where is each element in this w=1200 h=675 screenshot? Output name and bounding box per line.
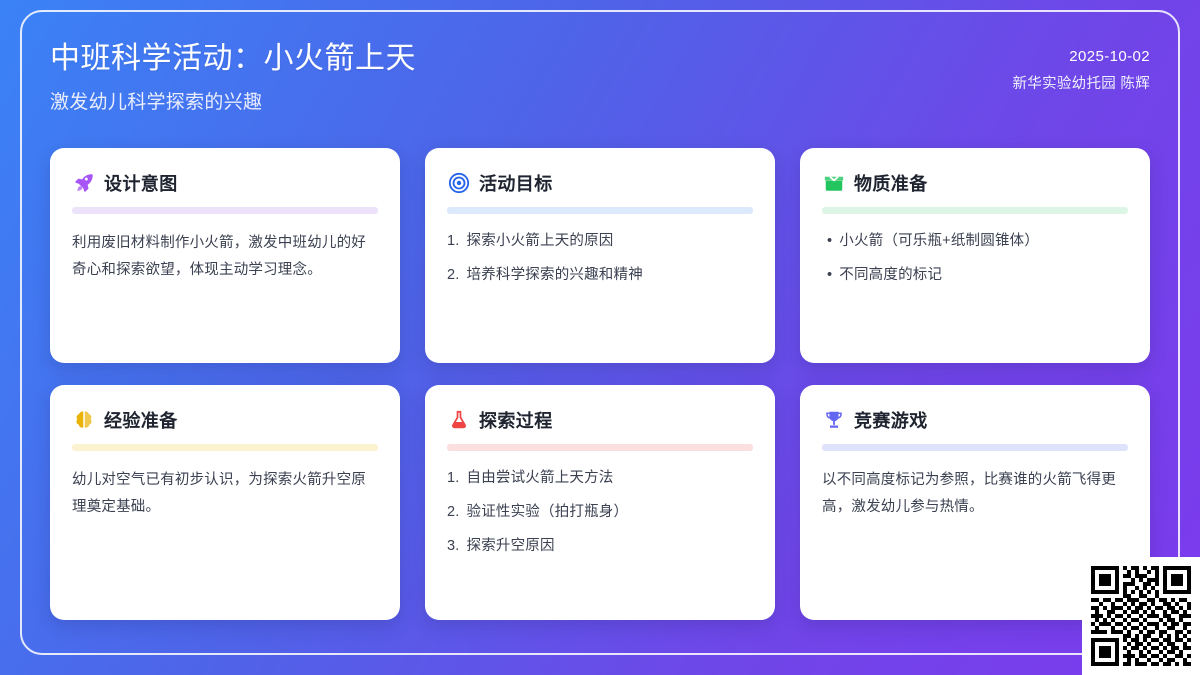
trophy-icon	[822, 409, 845, 432]
card-body: 幼儿对空气已有初步认识，为探索火箭升空原理奠定基础。	[72, 467, 378, 521]
list-item-text: 探索升空原因	[467, 535, 555, 558]
brain-icon	[72, 409, 95, 432]
list-item: 2.验证性实验（拍打瓶身）	[447, 501, 753, 524]
card-underline	[822, 207, 1128, 214]
qr-code	[1091, 566, 1191, 666]
list-marker: 3.	[447, 535, 460, 558]
qr-code-container[interactable]	[1082, 557, 1200, 675]
date-label: 2025-10-02	[1012, 48, 1150, 65]
card-title: 经验准备	[104, 407, 178, 433]
card-header: 活动目标	[447, 170, 753, 207]
card-2: 活动目标1.探索小火箭上天的原因2.培养科学探索的兴趣和精神	[425, 148, 775, 363]
list-item-text: 培养科学探索的兴趣和精神	[467, 264, 643, 287]
card-4: 经验准备幼儿对空气已有初步认识，为探索火箭升空原理奠定基础。	[50, 385, 400, 620]
card-title: 物质准备	[854, 170, 928, 196]
card-underline	[447, 207, 753, 214]
list-item-text: 小火箭（可乐瓶+纸制圆锥体）	[839, 230, 1039, 253]
card-underline	[72, 207, 378, 214]
card-paragraph: 利用废旧材料制作小火箭，激发中班幼儿的好奇心和探索欲望，体现主动学习理念。	[72, 230, 378, 284]
list-item: 1.探索小火箭上天的原因	[447, 230, 753, 253]
card-header: 经验准备	[72, 407, 378, 444]
flask-icon	[447, 409, 470, 432]
card-underline	[822, 444, 1128, 451]
list-marker: •	[822, 264, 832, 287]
list-item: •小火箭（可乐瓶+纸制圆锥体）	[822, 230, 1128, 253]
slide: 中班科学活动：小火箭上天 激发幼儿科学探索的兴趣 2025-10-02 新华实验…	[0, 0, 1200, 675]
slide-header: 中班科学活动：小火箭上天 激发幼儿科学探索的兴趣 2025-10-02 新华实验…	[50, 38, 1150, 130]
list-marker: 2.	[447, 264, 460, 287]
card-list: 1.自由尝试火箭上天方法2.验证性实验（拍打瓶身）3.探索升空原因	[447, 467, 753, 559]
list-item: •不同高度的标记	[822, 264, 1128, 287]
list-item: 1.自由尝试火箭上天方法	[447, 467, 753, 490]
target-icon	[447, 172, 470, 195]
card-title: 竞赛游戏	[854, 407, 928, 433]
card-5: 探索过程1.自由尝试火箭上天方法2.验证性实验（拍打瓶身）3.探索升空原因	[425, 385, 775, 620]
list-item: 3.探索升空原因	[447, 535, 753, 558]
organization-label: 新华实验幼托园 陈辉	[1012, 72, 1150, 93]
card-header: 物质准备	[822, 170, 1128, 207]
list-marker: 1.	[447, 230, 460, 253]
card-underline	[447, 444, 753, 451]
header-meta: 2025-10-02 新华实验幼托园 陈辉	[1012, 38, 1150, 93]
card-1: 设计意图利用废旧材料制作小火箭，激发中班幼儿的好奇心和探索欲望，体现主动学习理念…	[50, 148, 400, 363]
list-marker: 1.	[447, 467, 460, 490]
card-title: 活动目标	[479, 170, 553, 196]
list-marker: 2.	[447, 501, 460, 524]
package-icon	[822, 172, 845, 195]
card-body: 以不同高度标记为参照，比赛谁的火箭飞得更高，激发幼儿参与热情。	[822, 467, 1128, 521]
card-body: 利用废旧材料制作小火箭，激发中班幼儿的好奇心和探索欲望，体现主动学习理念。	[72, 230, 378, 284]
header-left: 中班科学活动：小火箭上天 激发幼儿科学探索的兴趣	[50, 38, 416, 114]
list-marker: •	[822, 230, 832, 253]
list-item-text: 自由尝试火箭上天方法	[467, 467, 614, 490]
list-item-text: 探索小火箭上天的原因	[467, 230, 614, 253]
list-item: 2.培养科学探索的兴趣和精神	[447, 264, 753, 287]
card-grid: 设计意图利用废旧材料制作小火箭，激发中班幼儿的好奇心和探索欲望，体现主动学习理念…	[50, 148, 1150, 620]
card-header: 探索过程	[447, 407, 753, 444]
list-item-text: 验证性实验（拍打瓶身）	[467, 501, 629, 524]
rocket-icon	[72, 172, 95, 195]
list-item-text: 不同高度的标记	[839, 264, 942, 287]
card-underline	[72, 444, 378, 451]
card-header: 竞赛游戏	[822, 407, 1128, 444]
card-3: 物质准备•小火箭（可乐瓶+纸制圆锥体）•不同高度的标记	[800, 148, 1150, 363]
page-title: 中班科学活动：小火箭上天	[50, 40, 416, 78]
card-header: 设计意图	[72, 170, 378, 207]
card-title: 探索过程	[479, 407, 553, 433]
card-list: •小火箭（可乐瓶+纸制圆锥体）•不同高度的标记	[822, 230, 1128, 287]
card-paragraph: 以不同高度标记为参照，比赛谁的火箭飞得更高，激发幼儿参与热情。	[822, 467, 1128, 521]
card-paragraph: 幼儿对空气已有初步认识，为探索火箭升空原理奠定基础。	[72, 467, 378, 521]
card-list: 1.探索小火箭上天的原因2.培养科学探索的兴趣和精神	[447, 230, 753, 287]
page-subtitle: 激发幼儿科学探索的兴趣	[50, 87, 416, 114]
card-title: 设计意图	[104, 170, 178, 196]
